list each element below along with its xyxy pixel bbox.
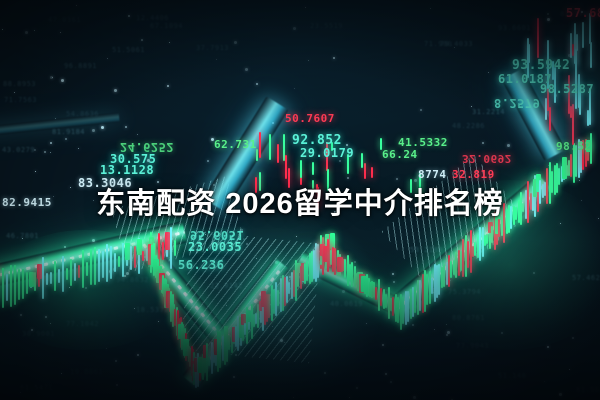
foreground-number-value: 62.731	[214, 138, 257, 151]
foreground-number-value: 8774	[418, 168, 447, 181]
page-title: 东南配资 2026留学中介排名榜	[96, 190, 504, 219]
foreground-number-value: 13.1128	[100, 163, 154, 177]
foreground-number-value: 50.7607	[285, 112, 335, 125]
foreground-number-value: 23.0035	[188, 240, 242, 254]
foreground-number-value: 57.68	[566, 6, 600, 20]
foreground-number-value: 98.5287	[540, 82, 594, 96]
foreground-number-value: 29.0179	[300, 146, 354, 160]
foreground-number-value: 32.819	[452, 168, 495, 181]
foreground-number-value: 66.24	[382, 148, 418, 161]
foreground-number-value: 8.2579	[494, 96, 540, 110]
foreground-number-value: 32.0692	[462, 152, 512, 165]
foreground-number-value: 56.236	[178, 258, 224, 272]
foreground-number-value: 98.52	[556, 140, 592, 153]
foreground-number-value: 93.5942	[512, 58, 570, 73]
stock-chart-banner: 47.036151.506196.889188.895371.756354.86…	[0, 0, 600, 400]
banner-title-container: 东南配资 2026留学中介排名榜	[0, 183, 600, 225]
